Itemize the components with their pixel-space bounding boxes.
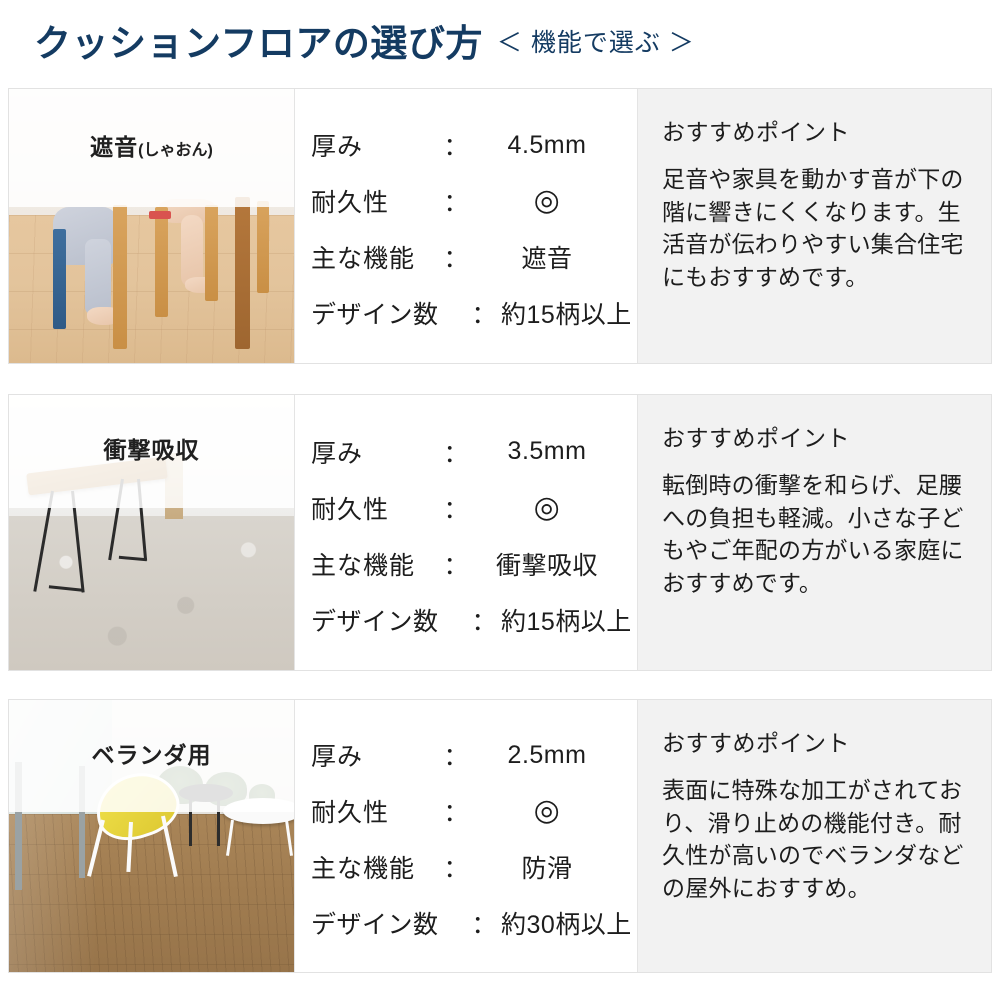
spec-value-durability: ◎ [473,796,621,826]
spec-key-thickness: 厚み [311,127,439,163]
spec-value-main-function: 衝撃吸収 [473,546,621,582]
spec-value-thickness: 3.5mm [473,437,621,466]
spec-colon: ： [467,905,501,941]
spec-table: 厚み ： 4.5mm 耐久性 ： ◎ 主な機能 ： 遮音 デザイン数 ： 約15… [294,89,638,363]
spec-colon: ： [439,434,473,470]
recommend-body: 転倒時の衝撃を和らげ、足腰への負担も軽減。小さな子どもやご年配の方がいる家庭にお… [662,469,969,600]
spec-key-thickness: 厚み [311,434,439,470]
spec-colon: ： [439,849,473,885]
spec-key-durability: 耐久性 [311,183,439,219]
spec-value-design-count: 約15柄以上 [501,602,632,638]
spec-key-design-count: デザイン数 [311,905,467,941]
spec-colon: ： [439,793,473,829]
card-label-text: 衝撃吸収 [104,431,200,465]
spec-key-durability: 耐久性 [311,793,439,829]
spec-value-design-count: 約15柄以上 [501,295,632,331]
spec-value-durability: ◎ [473,186,621,216]
spec-value-thickness: 4.5mm [473,131,621,160]
spec-row-durability: 耐久性 ： ◎ [311,480,621,536]
spec-key-design-count: デザイン数 [311,295,467,331]
product-card-shock-absorption: 衝撃吸収 厚み ： 3.5mm 耐久性 ： ◎ 主な機能 ： 衝撃吸収 デザイン… [8,394,992,671]
spec-row-main-function: 主な機能 ： 遮音 [311,229,621,285]
spec-row-thickness: 厚み ： 4.5mm [311,117,621,173]
photo-child-leg [85,239,111,315]
recommend-body: 足音や家具を動かす音が下の階に響きにくくなります。生活音が伝わりやすい集合住宅に… [662,163,969,294]
recommend-title: おすすめポイント [662,419,969,453]
card-label-banner: 衝撃吸収 [9,395,294,508]
photo-stone-floor [9,516,294,670]
card-label-banner: 遮音(しゃおん) [9,89,294,207]
photo-chair-leg-wood-5 [257,201,269,293]
spec-value-thickness: 2.5mm [473,741,621,770]
recommend-title: おすすめポイント [662,724,969,758]
recommend-title: おすすめポイント [662,113,969,147]
card-label-text: 遮音(しゃおん) [90,128,213,162]
card-photo-balcony-wood-deck: ベランダ用 [9,700,294,972]
spec-value-main-function: 防滑 [473,849,621,885]
spec-key-main-function: 主な機能 [311,546,439,582]
spec-colon: ： [439,183,473,219]
recommend-panel: おすすめポイント 転倒時の衝撃を和らげ、足腰への負担も軽減。小さな子どもやご年配… [638,395,991,670]
photo-chair-leg-wood-1 [113,205,127,349]
card-photo-kids-on-wood-floor: 遮音(しゃおん) [9,89,294,363]
spec-colon: ： [439,239,473,275]
photo-chair-leg-blue [53,229,66,329]
spec-row-main-function: 主な機能 ： 衝撃吸収 [311,536,621,592]
product-card-balcony: ベランダ用 厚み ： 2.5mm 耐久性 ： ◎ 主な機能 ： 防滑 デザイン数… [8,699,992,973]
card-label-banner: ベランダ用 [9,700,294,812]
product-card-shaon: 遮音(しゃおん) 厚み ： 4.5mm 耐久性 ： ◎ 主な機能 ： 遮音 デザ… [8,88,992,364]
spec-key-thickness: 厚み [311,737,439,773]
spec-row-design-count: デザイン数 ： 約15柄以上 [311,592,621,648]
spec-colon: ： [467,602,501,638]
spec-table: 厚み ： 3.5mm 耐久性 ： ◎ 主な機能 ： 衝撃吸収 デザイン数 ： 約… [294,395,638,670]
recommend-panel: おすすめポイント 表面に特殊な加工がされており、滑り止めの機能付き。耐久性が高い… [638,700,991,972]
spec-key-durability: 耐久性 [311,490,439,526]
photo-chair-leg-wood-3 [205,205,218,301]
spec-colon: ： [439,737,473,773]
card-label-text: ベランダ用 [92,736,212,770]
card-photo-bench-on-stone-floor: 衝撃吸収 [9,395,294,670]
card-label-ruby: (しゃおん) [138,142,213,159]
photo-chair-leg-wood-2 [155,207,168,317]
page-header: クッションフロアの選び方 ＜ 機能で選ぶ ＞ [0,0,1000,86]
recommend-body: 表面に特殊な加工がされており、滑り止めの機能付き。耐久性が高いのでベランダなどの… [662,774,969,905]
spec-value-main-function: 遮音 [473,239,621,275]
spec-row-thickness: 厚み ： 3.5mm [311,424,621,480]
photo-wood-floor [9,215,294,363]
spec-colon: ： [467,295,501,331]
photo-chair-leg-wood-4 [235,197,250,349]
recommend-panel: おすすめポイント 足音や家具を動かす音が下の階に響きにくくなります。生活音が伝わ… [638,89,991,363]
photo-red-accent [149,211,171,219]
spec-table: 厚み ： 2.5mm 耐久性 ： ◎ 主な機能 ： 防滑 デザイン数 ： 約30… [294,700,638,972]
spec-colon: ： [439,490,473,526]
infographic-page: クッションフロアの選び方 ＜ 機能で選ぶ ＞ [0,0,1000,1000]
spec-key-main-function: 主な機能 [311,239,439,275]
page-subtitle: ＜ 機能で選ぶ ＞ [497,31,695,56]
spec-row-thickness: 厚み ： 2.5mm [311,727,621,783]
spec-key-design-count: デザイン数 [311,602,467,638]
spec-row-main-function: 主な機能 ： 防滑 [311,839,621,895]
spec-value-design-count: 約30柄以上 [501,905,632,941]
spec-key-main-function: 主な機能 [311,849,439,885]
spec-row-design-count: デザイン数 ： 約30柄以上 [311,895,621,951]
spec-row-durability: 耐久性 ： ◎ [311,173,621,229]
spec-colon: ： [439,546,473,582]
spec-row-durability: 耐久性 ： ◎ [311,783,621,839]
page-title: クッションフロアの選び方 [34,25,483,62]
spec-colon: ： [439,127,473,163]
spec-value-durability: ◎ [473,493,621,523]
spec-row-design-count: デザイン数 ： 約15柄以上 [311,285,621,341]
